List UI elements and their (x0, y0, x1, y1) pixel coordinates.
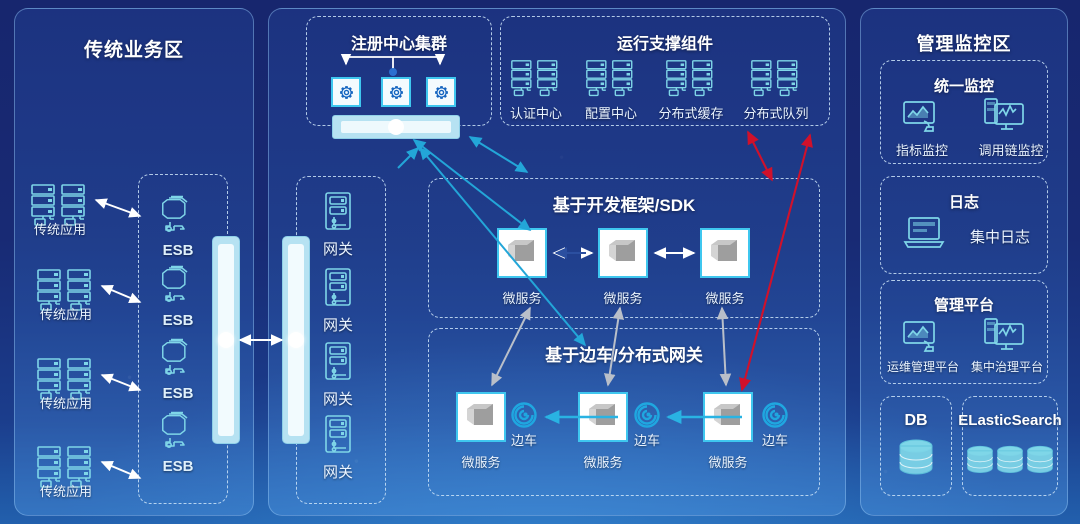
cube-icon (607, 238, 639, 268)
sidecar-icon (511, 402, 537, 428)
gateway-icon (324, 415, 352, 455)
registry-cluster-title: 注册中心集群 (306, 30, 492, 54)
database-icon (898, 438, 934, 480)
elasticsearch-title: ELasticSearch (955, 412, 1065, 429)
esb-icon (158, 412, 194, 452)
sdk-section-title: 基于开发框架/SDK (428, 191, 820, 216)
gear-icon (432, 83, 451, 102)
gateway-bus-node (288, 332, 304, 348)
database-icon (996, 442, 1024, 480)
sidecar-label: 边车 (501, 430, 547, 449)
panel-management-title: 管理监控区 (860, 30, 1068, 56)
sidecar-microservice (456, 392, 506, 442)
sidecar-label: 边车 (624, 430, 670, 449)
sdk-microservice-label: 微服务 (583, 288, 663, 307)
esb-label: ESB (146, 458, 210, 475)
gateway-icon (324, 268, 352, 308)
legacy-app-label: 传统应用 (20, 481, 112, 500)
server-stack-icon (663, 60, 719, 98)
cube-icon (709, 238, 741, 268)
esb-bus-node (218, 332, 234, 348)
sdk-microservice (598, 228, 648, 278)
sidecar-icon (634, 402, 660, 428)
gateway-label: 网关 (306, 461, 370, 482)
sidecar-microservice (578, 392, 628, 442)
runtime-support-title: 运行支撑组件 (500, 30, 830, 54)
cube-icon (465, 402, 497, 432)
sidecar-microservice (703, 392, 753, 442)
gear-icon (337, 83, 356, 102)
legacy-app-label: 传统应用 (20, 393, 112, 412)
sidecar-microservice-label: 微服务 (688, 452, 768, 471)
esb-label: ESB (146, 312, 210, 329)
sidecar-section-title: 基于边车/分布式网关 (428, 341, 820, 366)
metric-monitor-icon (902, 320, 942, 354)
database-icon (1026, 442, 1054, 480)
trace-monitor-icon (984, 98, 1026, 134)
registry-node (381, 77, 411, 107)
sdk-microservice (700, 228, 750, 278)
management-platform-item-label: 集中治理平台 (958, 358, 1056, 375)
gateway-label: 网关 (306, 314, 370, 335)
database-icon (966, 442, 994, 480)
cube-icon (587, 402, 619, 432)
trace-monitor-icon (984, 318, 1026, 354)
legacy-app-label: 传统应用 (14, 219, 106, 238)
runtime-item-label: 配置中心 (571, 103, 651, 122)
runtime-item-label: 分布式缓存 (644, 103, 738, 122)
registry-node (331, 77, 361, 107)
cube-icon (506, 238, 538, 268)
sdk-microservice (497, 228, 547, 278)
esb-label: ESB (146, 242, 210, 259)
legacy-app-label: 传统应用 (20, 304, 112, 323)
registry-bar-node (388, 119, 404, 135)
runtime-item-label: 分布式队列 (729, 103, 823, 122)
server-stack-icon (748, 60, 804, 98)
unified-monitor-title: 统一监控 (880, 75, 1048, 96)
server-stack-icon (508, 60, 564, 98)
management-platform-title: 管理平台 (880, 294, 1048, 315)
esb-label: ESB (146, 385, 210, 402)
sidecar-icon (762, 402, 788, 428)
log-title: 日志 (880, 191, 1048, 212)
gateway-label: 网关 (306, 238, 370, 259)
gear-icon (387, 83, 406, 102)
architecture-diagram: 传统业务区 传统应用 传统应用 (0, 0, 1080, 524)
unified-monitor-item-label: 指标监控 (880, 140, 964, 159)
unified-monitor-item-label: 调用链监控 (963, 140, 1059, 159)
registry-node (426, 77, 456, 107)
log-item-label: 集中日志 (955, 226, 1045, 247)
gateway-icon (324, 342, 352, 382)
db-title: DB (880, 412, 952, 430)
gateway-label: 网关 (306, 388, 370, 409)
esb-icon (158, 339, 194, 379)
server-stack-icon (583, 60, 639, 98)
runtime-item-label: 认证中心 (496, 103, 576, 122)
sidecar-label: 边车 (752, 430, 798, 449)
esb-icon (158, 196, 194, 236)
panel-legacy-title: 传统业务区 (15, 35, 253, 62)
metric-monitor-icon (902, 100, 942, 134)
cube-icon (712, 402, 744, 432)
esb-icon (158, 266, 194, 306)
sidecar-microservice-label: 微服务 (563, 452, 643, 471)
sidecar-microservice-label: 微服务 (441, 452, 521, 471)
laptop-icon (904, 216, 946, 250)
sdk-microservice-label: 微服务 (482, 288, 562, 307)
gateway-icon (324, 192, 352, 232)
sdk-microservice-label: 微服务 (685, 288, 765, 307)
